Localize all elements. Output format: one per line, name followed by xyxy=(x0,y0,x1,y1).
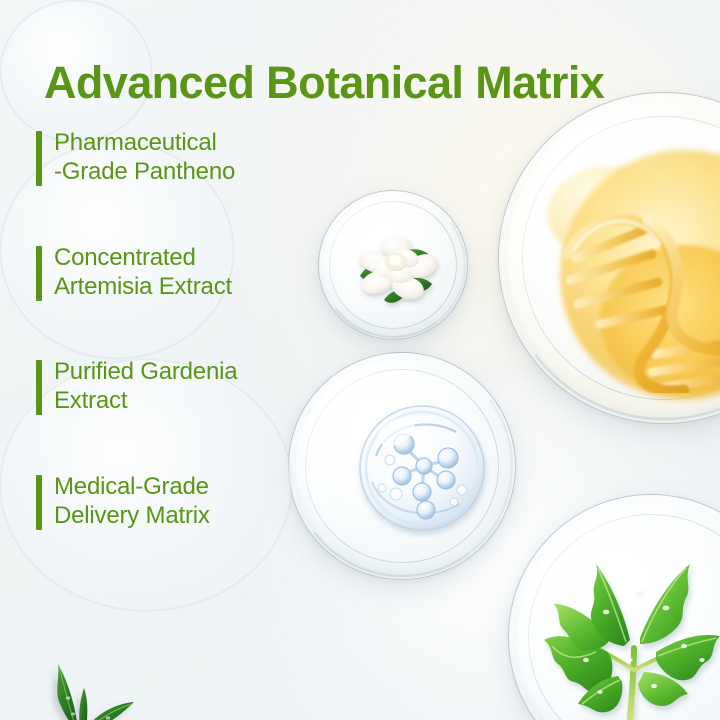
feature-item-medical-grade-delivery-matrix: Medical-Grade Delivery Matrix xyxy=(36,472,336,531)
feature-marker-bar xyxy=(36,246,42,301)
ingredient-feature-list: Pharmaceutical -Grade Pantheno Concentra… xyxy=(36,128,336,530)
feature-item-purified-gardenia-extract: Purified Gardenia Extract xyxy=(36,357,336,416)
text-content-layer: Advanced Botanical Matrix Pharmaceutical… xyxy=(0,0,720,720)
feature-marker-bar xyxy=(36,131,42,186)
ingredient-infographic-page: Advanced Botanical Matrix Pharmaceutical… xyxy=(0,0,720,720)
feature-label: Purified Gardenia Extract xyxy=(54,357,237,416)
feature-item-concentrated-artemisia-extract: Concentrated Artemisia Extract xyxy=(36,243,336,302)
feature-label: Pharmaceutical -Grade Pantheno xyxy=(54,128,235,187)
feature-label: Concentrated Artemisia Extract xyxy=(54,243,232,302)
feature-item-pharmaceutical-grade-pantheno: Pharmaceutical -Grade Pantheno xyxy=(36,128,336,187)
feature-label: Medical-Grade Delivery Matrix xyxy=(54,472,210,531)
feature-marker-bar xyxy=(36,475,42,530)
page-title: Advanced Botanical Matrix xyxy=(44,60,604,105)
feature-marker-bar xyxy=(36,360,42,415)
